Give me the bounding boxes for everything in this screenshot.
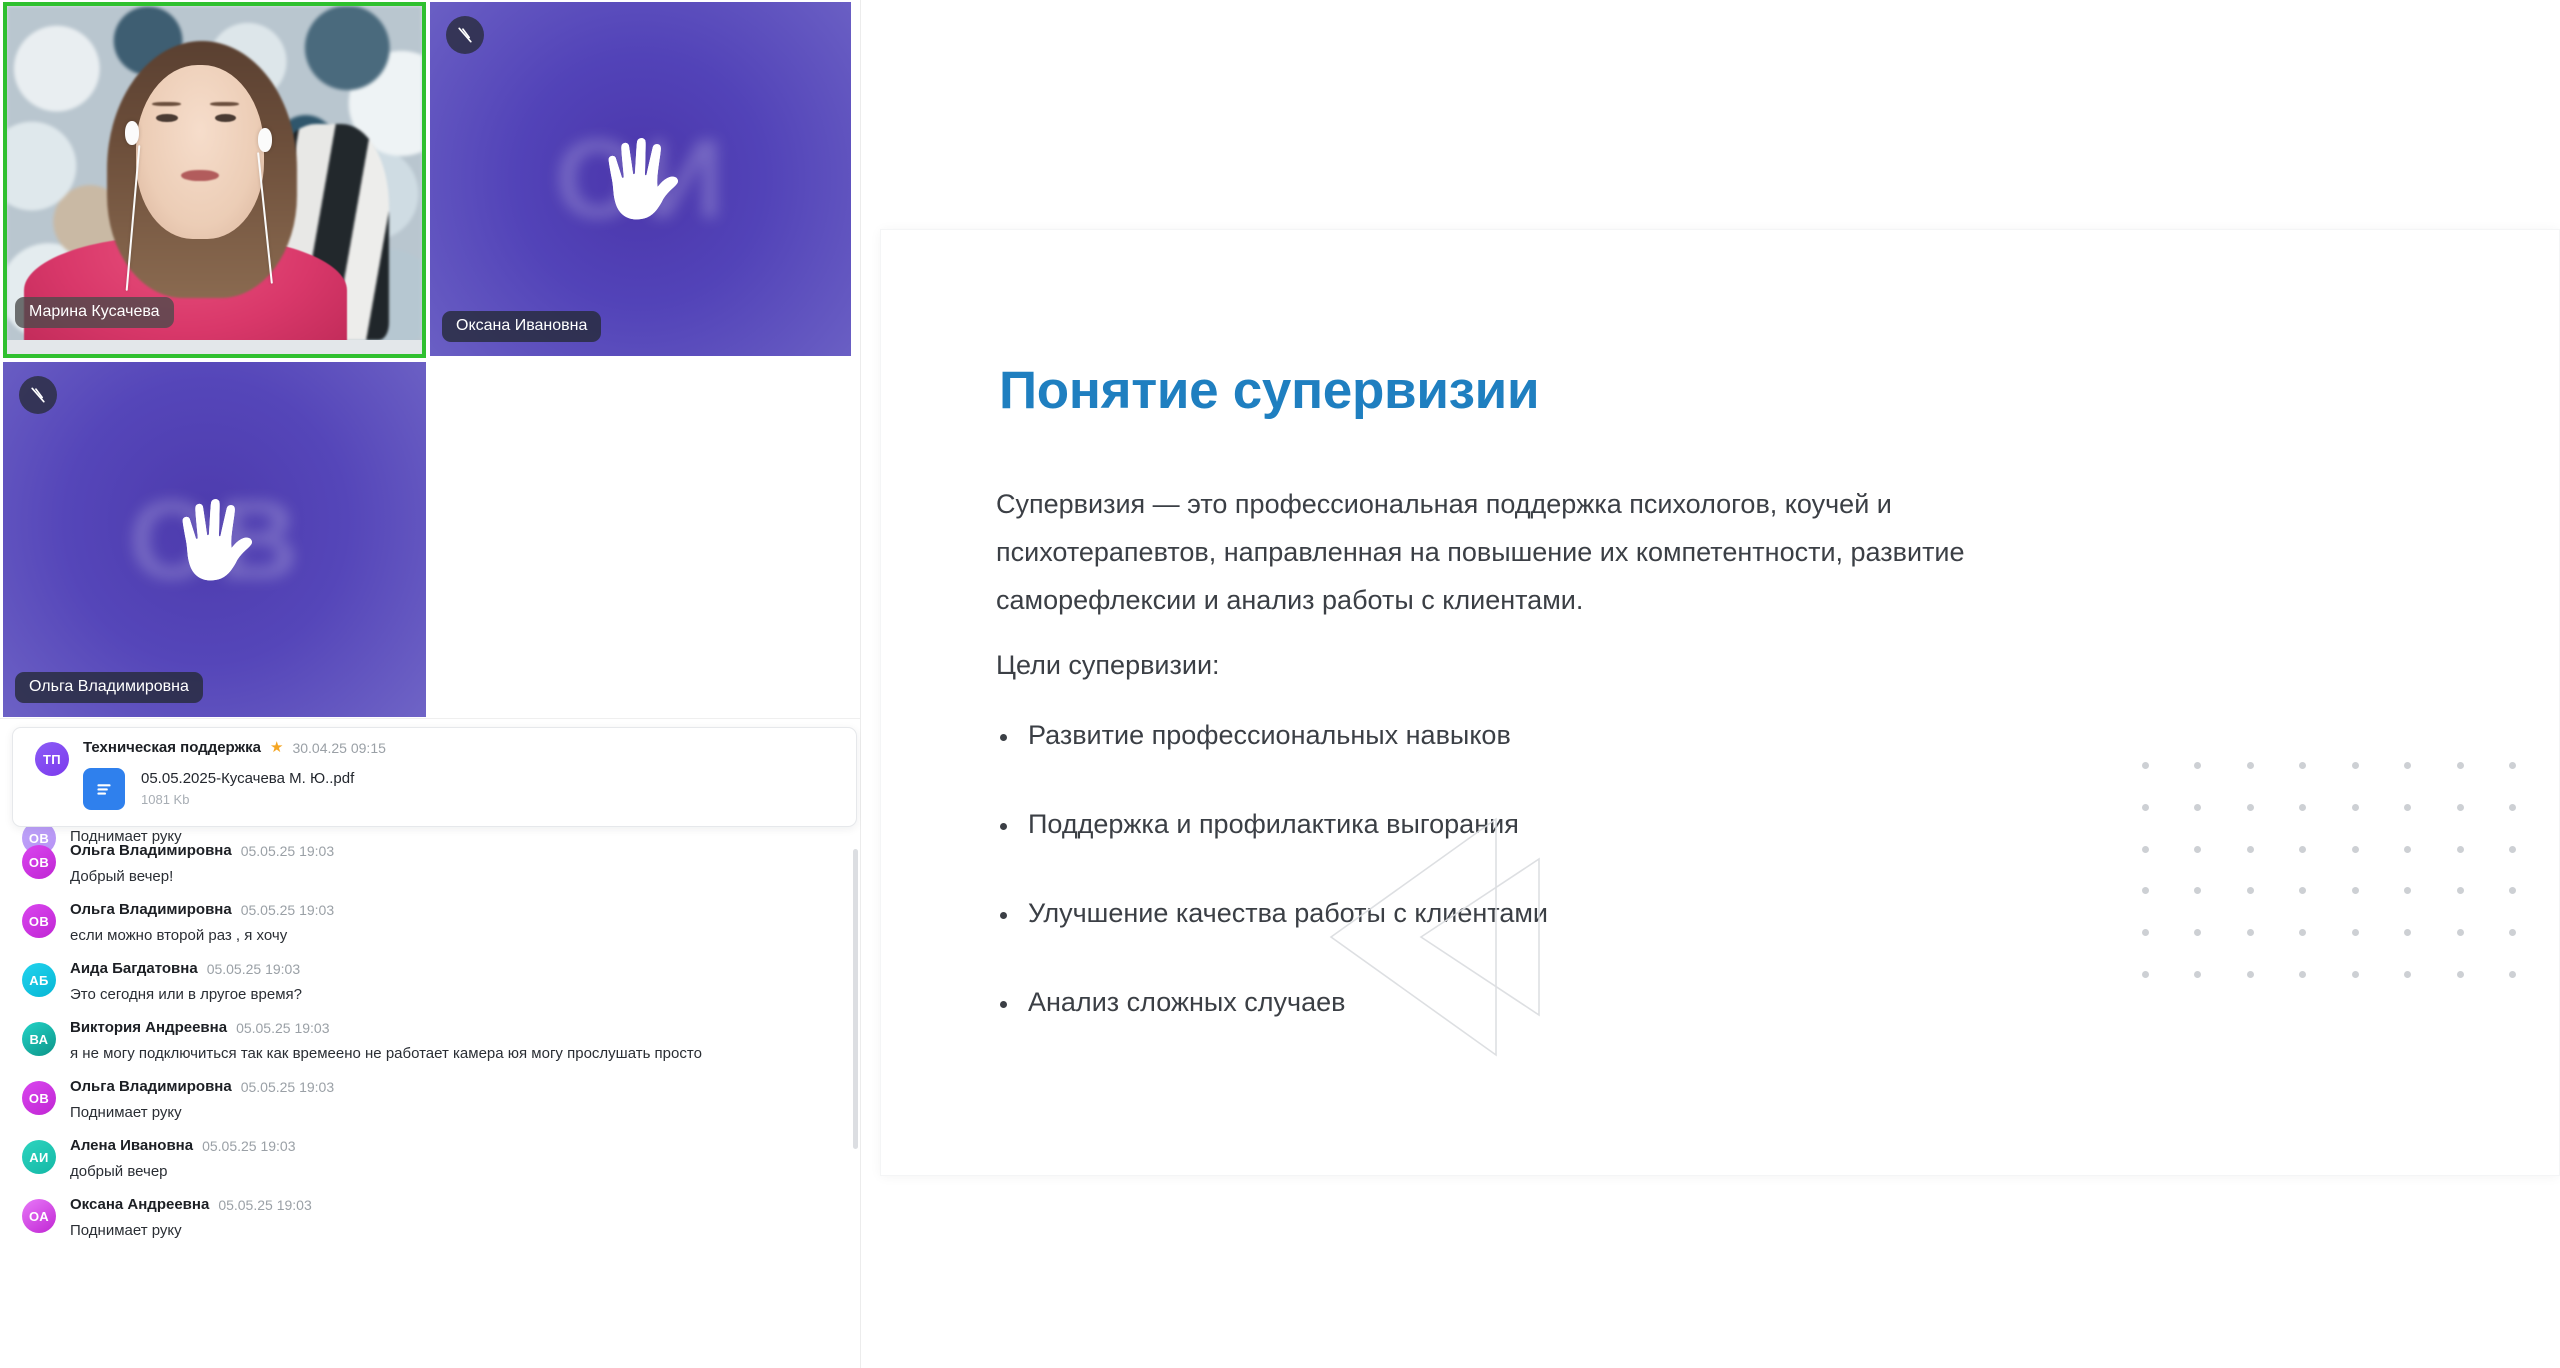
avatar: ОВ (22, 845, 56, 879)
avatar: ОВ (22, 1081, 56, 1115)
attachment[interactable]: 05.05.2025-Кусачева М. Ю..pdf 1081 Kb (83, 768, 838, 810)
message-header: Техническая поддержка ★ 30.04.25 09:15 (83, 740, 838, 757)
list-item[interactable]: АИ Алена Ивановна 05.05.25 19:03 добрый … (0, 1130, 861, 1189)
message-timestamp: 05.05.25 19:03 (241, 1080, 334, 1095)
message-text: если можно второй раз , я хочу (70, 926, 835, 946)
feed-letterbox-bottom (7, 340, 422, 354)
message-timestamp: 05.05.25 19:03 (236, 1021, 329, 1036)
message-author: Ольга Владимировна (70, 902, 232, 919)
feed-earbud-right (258, 128, 272, 152)
participant-name-label: Марина Кусачева (15, 297, 174, 328)
chat-panel[interactable]: ОВ Поднимает руку ТП Техническая поддерж… (0, 718, 861, 1368)
avatar: ОА (22, 1199, 56, 1233)
attachment-filesize: 1081 Kb (141, 792, 354, 807)
avatar: ТП (35, 742, 69, 776)
message-text: Это сегодня или в лругое время? (70, 985, 835, 1005)
chat-message-list: ОВ Поднимает руку ТП Техническая поддерж… (0, 719, 861, 1248)
slide-paragraph: Супервизия — это профессиональная поддер… (996, 480, 2116, 624)
message-author: Ольга Владимировна (70, 1079, 232, 1096)
feed-person-face (136, 65, 265, 239)
slide-title: Понятие супервизии (999, 360, 1539, 421)
feed-person-brow-right (210, 102, 239, 107)
list-item[interactable]: ОВ Ольга Владимировна 05.05.25 19:03 есл… (0, 894, 861, 953)
attachment-filename: 05.05.2025-Кусачева М. Ю..pdf (141, 770, 354, 788)
participant-name-label: Оксана Ивановна (442, 311, 601, 342)
list-item[interactable]: ОА Оксана Андреевна 05.05.25 19:03 Подни… (0, 1189, 861, 1248)
message-text: Поднимает руку (70, 1221, 835, 1241)
left-panel: Марина Кусачева ОИ 🖐 Оксана Ивановна (0, 0, 861, 1368)
message-author: Алена Ивановна (70, 1138, 193, 1155)
shared-slide[interactable]: Понятие супервизии Супервизия — это проф… (881, 230, 2559, 1175)
avatar: АИ (22, 1140, 56, 1174)
video-tile-grid: Марина Кусачева ОИ 🖐 Оксана Ивановна (0, 0, 861, 718)
avatar: ОВ (22, 904, 56, 938)
message-timestamp: 05.05.25 19:03 (241, 844, 334, 859)
pinned-message-card[interactable]: ТП Техническая поддержка ★ 30.04.25 09:1… (12, 727, 857, 827)
list-item[interactable]: ОВ Ольга Владимировна 05.05.25 19:03 Доб… (0, 835, 861, 894)
message-author: Техническая поддержка (83, 740, 261, 757)
meeting-screen: Марина Кусачева ОИ 🖐 Оксана Ивановна (0, 0, 2560, 1368)
message-author: Ольга Владимировна (70, 843, 232, 860)
microphone-muted-icon[interactable] (19, 376, 57, 414)
camera-off-placeholder: ОВ 🖐 (3, 362, 426, 717)
slide-bullet: Анализ сложных случаев (996, 987, 1548, 1018)
feed-person-brow-left (152, 102, 181, 107)
avatar: ВА (22, 1022, 56, 1056)
feed-person-mouth (181, 170, 218, 182)
avatar: АБ (22, 963, 56, 997)
pinned-message-body: Техническая поддержка ★ 30.04.25 09:15 (83, 740, 838, 810)
message-text: я не могу подключиться так как времеено … (70, 1044, 835, 1064)
message-author: Виктория Андреевна (70, 1020, 227, 1037)
message-timestamp: 05.05.25 19:03 (207, 962, 300, 977)
decorative-dot-grid (2119, 745, 2539, 995)
message-text: Поднимает руку (70, 1103, 835, 1123)
camera-off-placeholder: ОИ 🖐 (430, 2, 851, 356)
attachment-meta: 05.05.2025-Кусачева М. Ю..pdf 1081 Kb (141, 770, 354, 807)
video-tile-olga-vladimirovna[interactable]: ОВ 🖐 Ольга Владимировна (3, 362, 426, 717)
video-tile-oksana-ivanovna[interactable]: ОИ 🖐 Оксана Ивановна (430, 2, 851, 356)
message-timestamp: 05.05.25 19:03 (241, 903, 334, 918)
message-author: Аида Багдатовна (70, 961, 198, 978)
message-timestamp: 05.05.25 19:03 (202, 1139, 295, 1154)
chat-scrollbar[interactable] (853, 849, 858, 1149)
slide-bullet: Поддержка и профилактика выгорания (996, 809, 1548, 840)
list-item[interactable]: АБ Аида Багдатовна 05.05.25 19:03 Это се… (0, 953, 861, 1012)
list-item[interactable]: ОВ Ольга Владимировна 05.05.25 19:03 Под… (0, 1071, 861, 1130)
slide-bullet: Улучшение качества работы с клиентами (996, 898, 1548, 929)
raised-hand-icon: 🖐 (594, 142, 686, 216)
slide-bullet: Развитие профессиональных навыков (996, 720, 1548, 751)
microphone-muted-icon[interactable] (446, 16, 484, 54)
message-timestamp: 05.05.25 19:03 (218, 1198, 311, 1213)
video-tile-marina-kusacheva[interactable]: Марина Кусачева (3, 2, 426, 358)
message-text: Добрый вечер! (70, 867, 835, 887)
slide-subheading: Цели супервизии: (996, 650, 1220, 681)
raised-hand-icon: 🖐 (168, 503, 260, 577)
message-text: добрый вечер (70, 1162, 835, 1182)
star-icon: ★ (270, 740, 283, 757)
presentation-stage: Понятие супервизии Супервизия — это проф… (861, 0, 2560, 1368)
message-timestamp: 30.04.25 09:15 (292, 741, 385, 756)
document-icon (83, 768, 125, 810)
message-author: Оксана Андреевна (70, 1197, 209, 1214)
slide-bullet-list: Развитие профессиональных навыков Поддер… (996, 720, 1548, 1076)
participant-name-label: Ольга Владимировна (15, 672, 203, 703)
list-item[interactable]: ВА Виктория Андреевна 05.05.25 19:03 я н… (0, 1012, 861, 1071)
